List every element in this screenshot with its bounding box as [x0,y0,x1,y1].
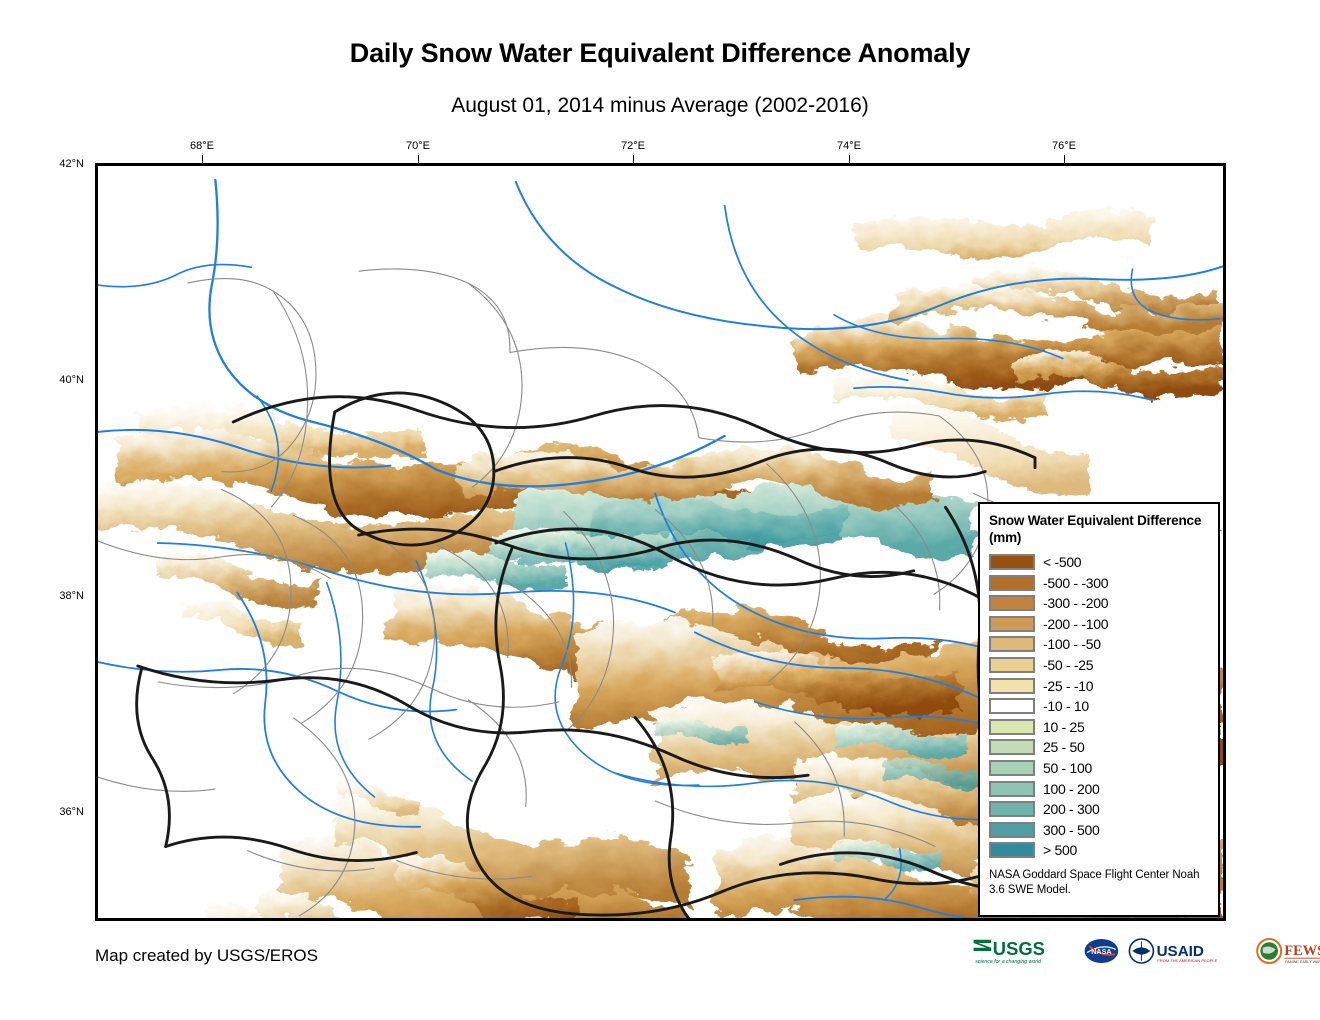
legend-item-label: -100 - -50 [1043,636,1101,652]
legend-item-label: > 500 [1043,842,1077,858]
agency-logos: USGS science for a changing world NASA U… [972,934,1320,968]
legend-swatch [989,575,1035,591]
legend-item-label: 200 - 300 [1043,801,1099,817]
legend-swatch [989,657,1035,673]
legend-title: Snow Water Equivalent Difference (mm) [989,513,1204,547]
page-title: Daily Snow Water Equivalent Difference A… [0,38,1320,69]
usaid-logo: USAID FROM THE AMERICAN PEOPLE [1127,935,1247,967]
legend-item: 10 - 25 [989,717,1218,738]
legend-item: -10 - 10 [989,696,1218,717]
legend-swatch [989,719,1035,735]
legend-swatch [989,616,1035,632]
legend-swatch [989,842,1035,858]
latitude-label: 42°N [59,158,88,170]
legend-swatch [989,801,1035,817]
legend-item: -200 - -100 [989,614,1218,635]
legend-item-label: 25 - 50 [1043,739,1085,755]
svg-text:FROM THE AMERICAN PEOPLE: FROM THE AMERICAN PEOPLE [1157,958,1217,963]
svg-text:science for a changing world: science for a changing world [975,959,1042,965]
legend-swatch [989,554,1035,570]
legend-item: 50 - 100 [989,758,1218,779]
legend-item-label: -300 - -200 [1043,595,1108,611]
legend-source-note: NASA Goddard Space Flight Center Noah 3.… [989,868,1211,899]
legend-item-label: -25 - -10 [1043,678,1093,694]
usgs-logo: USGS science for a changing world [972,935,1076,967]
legend-item: -500 - -300 [989,572,1218,593]
legend-item: -100 - -50 [989,634,1218,655]
legend-item: -25 - -10 [989,675,1218,696]
legend-item: 200 - 300 [989,799,1218,820]
legend-item: 25 - 50 [989,737,1218,758]
longitude-label: 72°E [621,140,645,152]
legend-rows: < -500-500 - -300-300 - -200-200 - -100-… [989,552,1218,861]
svg-text:USGS: USGS [993,938,1045,959]
longitude-label: 74°E [837,140,861,152]
legend-item-label: -50 - -25 [1043,657,1093,673]
latitude-label: 38°N [59,590,88,602]
legend-swatch [989,822,1035,838]
legend-item-label: -500 - -300 [1043,575,1108,591]
fewsnet-logo: FEWS NET FAMINE EARLY WARNING SYSTEMS NE… [1254,935,1320,967]
svg-text:NASA: NASA [1091,947,1111,956]
longitude-label: 76°E [1052,140,1076,152]
legend-swatch [989,698,1035,714]
nasa-logo: NASA [1083,935,1120,967]
legend-item: > 500 [989,840,1218,861]
legend-item-label: -10 - 10 [1043,698,1089,714]
svg-text:FEWS NET: FEWS NET [1284,943,1320,959]
map-credit: Map created by USGS/EROS [95,946,318,966]
legend-panel: Snow Water Equivalent Difference (mm) < … [978,502,1220,917]
legend-item: 100 - 200 [989,778,1218,799]
legend-swatch [989,595,1035,611]
legend-item-label: 300 - 500 [1043,822,1099,838]
legend-item: -50 - -25 [989,655,1218,676]
latitude-label: 40°N [59,374,88,386]
legend-swatch [989,760,1035,776]
legend-item-label: 50 - 100 [1043,760,1092,776]
latitude-label: 36°N [59,806,88,818]
legend-swatch [989,678,1035,694]
legend-swatch [989,781,1035,797]
svg-text:USAID: USAID [1156,943,1203,960]
legend-item: < -500 [989,552,1218,573]
legend-item-label: 10 - 25 [1043,719,1085,735]
legend-item: 300 - 500 [989,819,1218,840]
legend-swatch [989,636,1035,652]
legend-item-label: -200 - -100 [1043,616,1108,632]
longitude-label: 70°E [406,140,430,152]
legend-item-label: < -500 [1043,554,1081,570]
svg-text:FAMINE EARLY WARNING SYSTEMS N: FAMINE EARLY WARNING SYSTEMS NETWORK [1285,960,1320,964]
legend-swatch [989,739,1035,755]
legend-item-label: 100 - 200 [1043,781,1099,797]
legend-item: -300 - -200 [989,593,1218,614]
page-subtitle: August 01, 2014 minus Average (2002-2016… [0,94,1320,118]
longitude-label: 68°E [190,140,214,152]
